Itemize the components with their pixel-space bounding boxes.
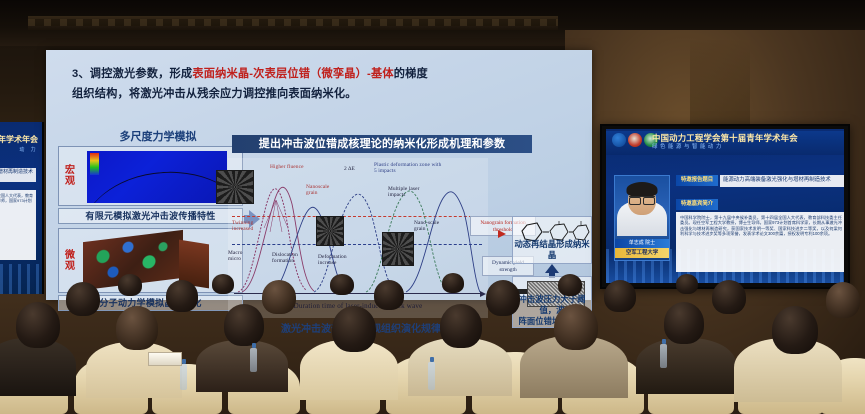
audience-head	[330, 274, 354, 295]
right-tv-display: 中国动力工程学会第十届青年学术年会 绿色能源与智能动力 单志成 院士 空军工程大…	[600, 124, 850, 289]
conference-hall-scene: 年学术年会 动 力 强化与增材再制造技术 中国科学院院士，第十九届中央候补委员，…	[0, 0, 865, 414]
slide-title: 3、调控激光参数，形成表面纳米晶-次表层位错（微孪晶）-基体的梯度 组织结构，将…	[72, 64, 562, 104]
annotation-multiple-impacts: Multiple laser impacts	[388, 186, 434, 198]
audience-head	[212, 274, 234, 294]
name-card-text	[149, 353, 181, 366]
bio-value: 中国科学院院士，第十九届中央候补委员，第十四届全国人大代表，教育部科技委主任委员…	[676, 212, 844, 272]
water-bottle	[250, 348, 257, 372]
mascot-logo-icon	[628, 133, 642, 147]
water-bottle	[180, 364, 187, 390]
audience-head	[826, 282, 860, 318]
audience-person	[636, 338, 736, 394]
audience-head	[664, 302, 704, 344]
audience-head	[676, 274, 698, 294]
audience-head	[262, 280, 296, 314]
left-tv-subtitle: 动 力	[0, 146, 38, 153]
audience-head	[712, 280, 746, 314]
annotation-deformation-increase: Deformation increase	[318, 254, 352, 266]
left-tv-display: 年学术年会 动 力 强化与增材再制造技术 中国科学院院士，第十九届中央候补委员，…	[0, 122, 44, 294]
audience-head	[604, 280, 636, 312]
glasses-icon	[629, 196, 655, 203]
result-box-recrystallization: 动态再结晶形成纳米晶	[512, 216, 592, 264]
micro-tag: 微观	[62, 250, 78, 272]
bio-label: 特邀嘉宾简介	[676, 199, 718, 210]
sem-micrograph-1	[216, 170, 254, 204]
ceiling-beam	[28, 16, 558, 30]
speaker-name: 单志成 院士	[615, 239, 669, 248]
annotation-dislocation: Dislocation formation	[272, 252, 304, 264]
audience-head	[118, 274, 142, 296]
slide-title-suffix: 的梯度	[394, 68, 428, 80]
society-logo-icon	[612, 133, 626, 147]
audience-head	[166, 280, 198, 312]
audience-person	[196, 340, 288, 392]
annotation-macro-micro: Macro micro	[228, 250, 248, 262]
name-card	[148, 352, 182, 366]
slide-title-line2: 组织结构，将激光冲击从残余应力调控推向表面纳米化。	[72, 88, 357, 100]
annotation-nanoscale-grain: Nanoscale grain	[306, 184, 336, 196]
water-bottle	[428, 362, 435, 390]
speaker-organization: 空军工程大学	[615, 248, 669, 258]
left-tv-title: 年学术年会	[0, 134, 38, 145]
left-tv-bio: 中国科学院院士，第十九届中央候补委员，第十四届全国人大代表，教育部科技委主任委员…	[0, 190, 36, 260]
annotation-higher-fluence: Higher fluence	[270, 164, 304, 170]
sem-micrograph-3	[382, 232, 414, 266]
annotation-twinning: Twinning increased	[232, 220, 260, 232]
up-arrow-icon	[545, 264, 559, 273]
left-tv-topic: 强化与增材再制造技术	[0, 168, 36, 182]
audience-head	[440, 304, 482, 348]
molecular-dynamics-image	[83, 232, 213, 290]
slide-content: 3、调控激光参数，形成表面纳米晶-次表层位错（微孪晶）-基体的梯度 组织结构，将…	[46, 50, 592, 300]
audience-area	[0, 284, 865, 414]
audience-head	[66, 282, 100, 316]
water-bottle	[660, 344, 667, 368]
left-column-heading: 多尺度力学模拟	[78, 128, 238, 144]
audience-head	[116, 306, 158, 350]
macro-caption: 有限元模拟激光冲击波传播特性	[58, 208, 243, 224]
speaker-photo: 单志成 院士 空军工程大学	[614, 175, 670, 261]
audience-head	[558, 274, 582, 296]
audience-head	[442, 273, 464, 293]
audience-head	[554, 304, 598, 350]
fem-simulation-image	[87, 151, 227, 203]
result-1-caption: 动态再结晶形成纳米晶	[513, 239, 591, 261]
speaker-hair	[627, 182, 658, 197]
slide-title-highlight: 表面纳米晶-次表层位错（微孪晶）-基体	[192, 68, 393, 80]
annotation-nano-scale-grain: Nano-scale grain	[414, 220, 448, 232]
audience-head	[772, 306, 818, 354]
macro-tag: 宏观	[62, 165, 78, 187]
audience-head	[486, 280, 520, 316]
annotation-plastic-deformation: Plastic deformation zone with 5 impacts	[374, 162, 444, 174]
annotation-delta-e: 2 ΔE	[344, 166, 355, 172]
sem-micrograph-2	[316, 216, 344, 246]
audience-head	[224, 304, 264, 346]
audience-head	[374, 280, 404, 310]
audience-head	[16, 302, 60, 348]
right-tv-screen: 中国动力工程学会第十届青年学术年会 绿色能源与智能动力 单志成 院士 空军工程大…	[606, 129, 844, 283]
projection-screen: 3、调控激光参数，形成表面纳米晶-次表层位错（微孪晶）-基体的梯度 组织结构，将…	[46, 50, 592, 300]
conference-subtitle: 绿色能源与智能动力	[652, 142, 840, 150]
wall-panel-upper	[690, 40, 750, 130]
arrow-to-result-1-icon	[498, 230, 506, 238]
topic-value: 能源动力高端装备激光强化与增材再制造技术	[720, 175, 844, 187]
slide-title-prefix: 3、调控激光参数，形成	[72, 68, 192, 80]
topic-label: 特邀报告题目	[676, 175, 718, 186]
audience-head	[332, 306, 376, 352]
audience-person	[86, 342, 182, 398]
right-column-heading: 提出冲击波位错成核理论的纳米化形成机理和参数	[232, 135, 532, 153]
